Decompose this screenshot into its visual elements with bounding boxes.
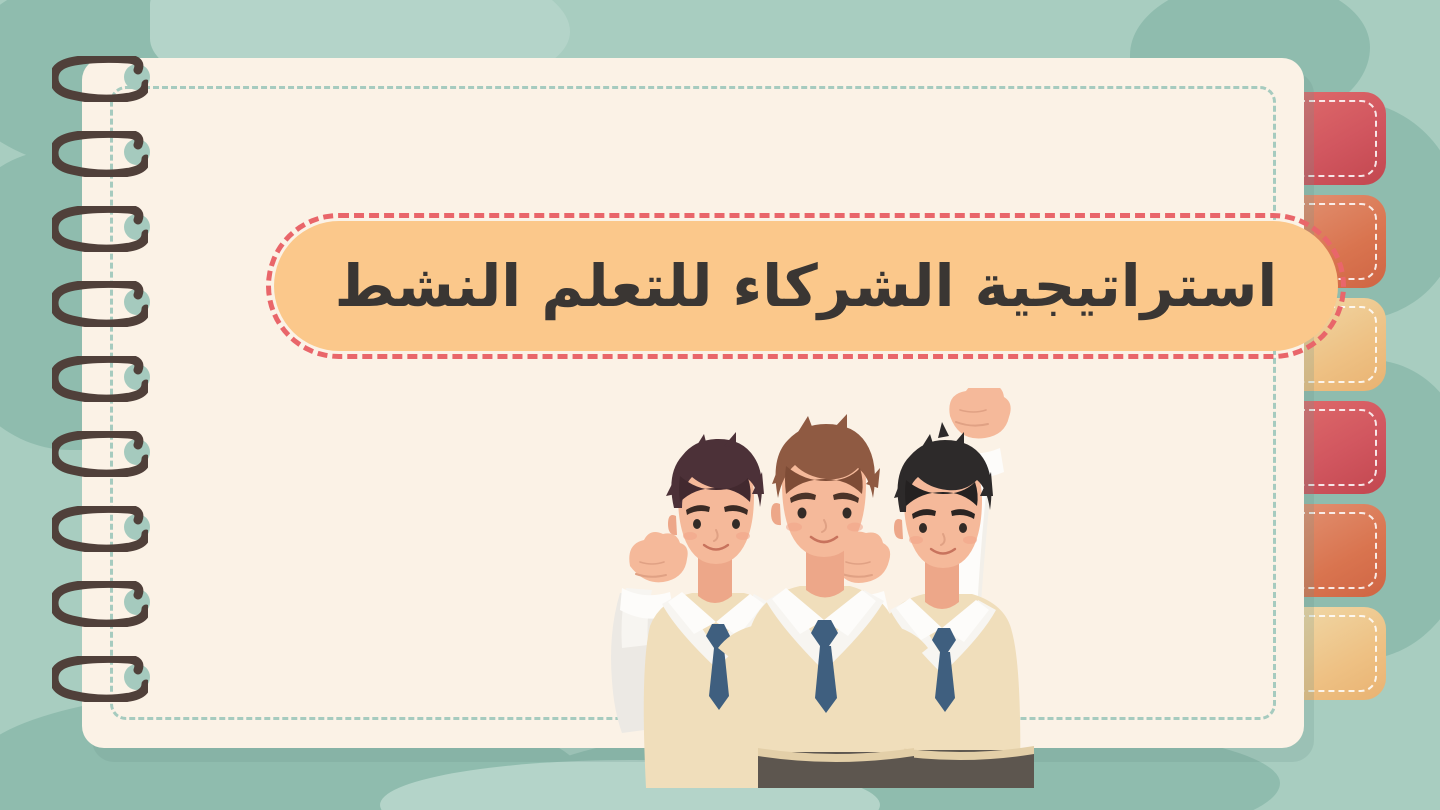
students-illustration (602, 388, 1042, 788)
tab-dashed-outline (1297, 615, 1377, 692)
title-banner: استراتيجية الشركاء للتعلم النشط (274, 221, 1338, 351)
tab-dashed-outline (1297, 409, 1377, 486)
page-title: استراتيجية الشركاء للتعلم النشط (335, 257, 1278, 315)
tab-dashed-outline (1297, 100, 1377, 177)
index-tab-strip (1288, 92, 1398, 712)
tab-dashed-outline (1297, 512, 1377, 589)
slide-canvas: استراتيجية الشركاء للتعلم النشط (0, 0, 1440, 810)
notebook-page: استراتيجية الشركاء للتعلم النشط (82, 58, 1304, 748)
